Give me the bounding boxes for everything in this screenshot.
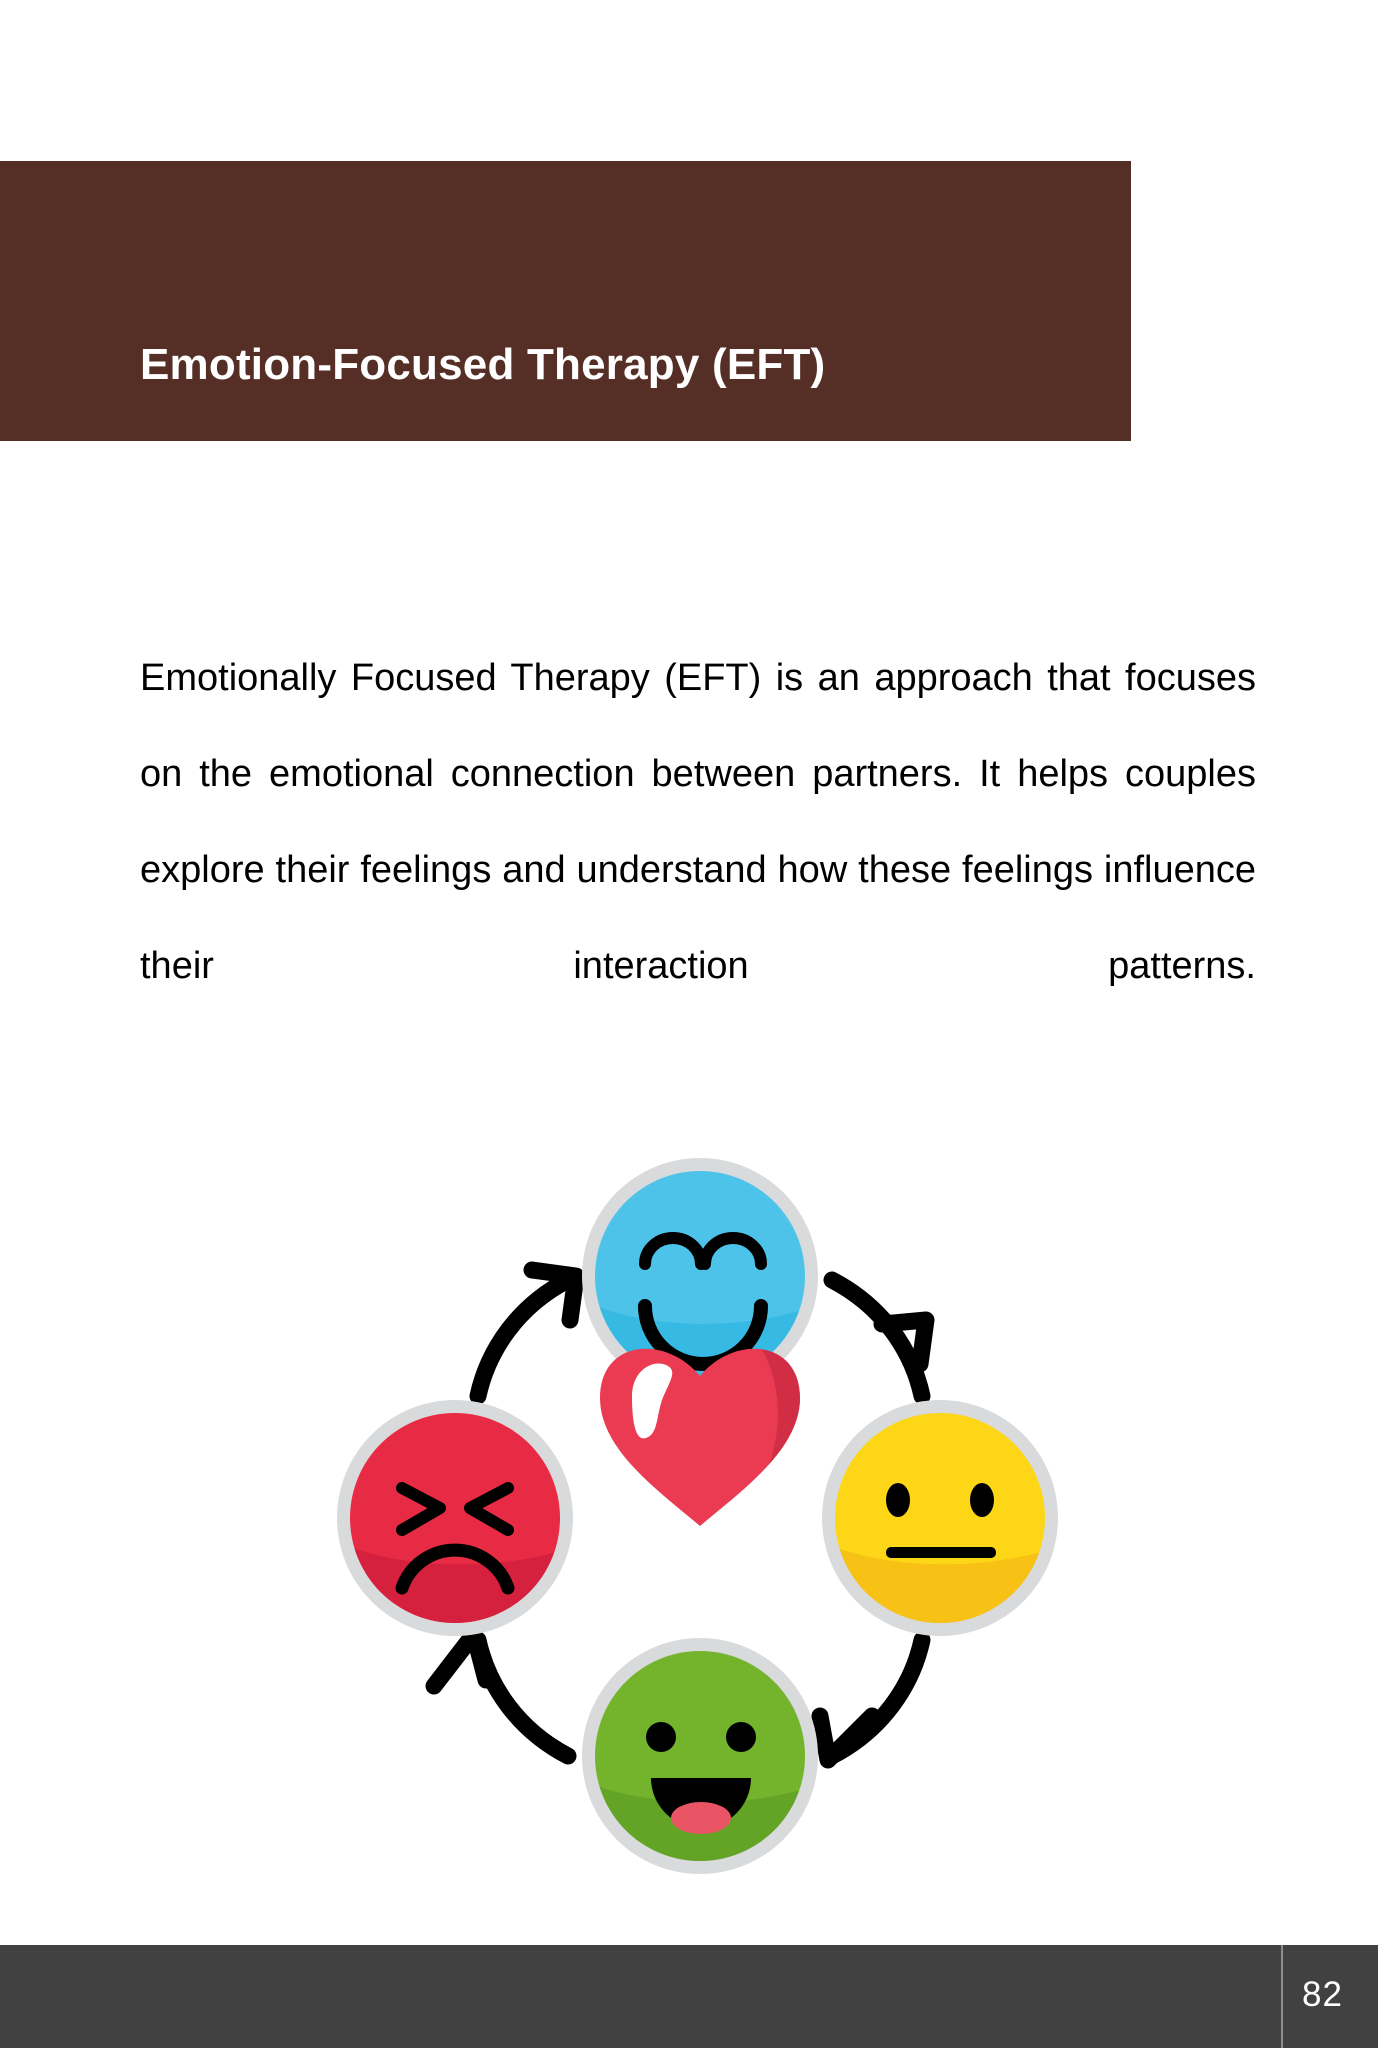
footer-divider: [1281, 1945, 1283, 2048]
angry-face-red: [328, 1390, 596, 1648]
right-eye-dot: [970, 1483, 994, 1517]
emotion-cycle-diagram: [320, 1128, 1080, 1890]
page-number: 82: [1302, 1975, 1343, 2015]
arrow-blue-to-yellow: [832, 1280, 926, 1396]
neutral-face-yellow: [812, 1390, 1080, 1648]
laughing-face-green: [572, 1628, 842, 1886]
page-footer-band: [0, 1945, 1378, 2048]
right-eye-dot: [726, 1722, 756, 1752]
left-eye-dot: [646, 1722, 676, 1752]
body-paragraph: Emotionally Focused Therapy (EFT) is an …: [140, 630, 1256, 1110]
page-title: Emotion-Focused Therapy (EFT): [140, 341, 825, 389]
arrow-green-to-red: [434, 1634, 568, 1756]
page-header-band: Emotion-Focused Therapy (EFT): [0, 161, 1131, 441]
left-eye-dot: [886, 1483, 910, 1517]
flat-mouth: [886, 1547, 996, 1558]
tongue: [671, 1802, 731, 1834]
arrow-red-to-blue: [478, 1270, 576, 1396]
arrow-yellow-to-green: [820, 1640, 922, 1760]
